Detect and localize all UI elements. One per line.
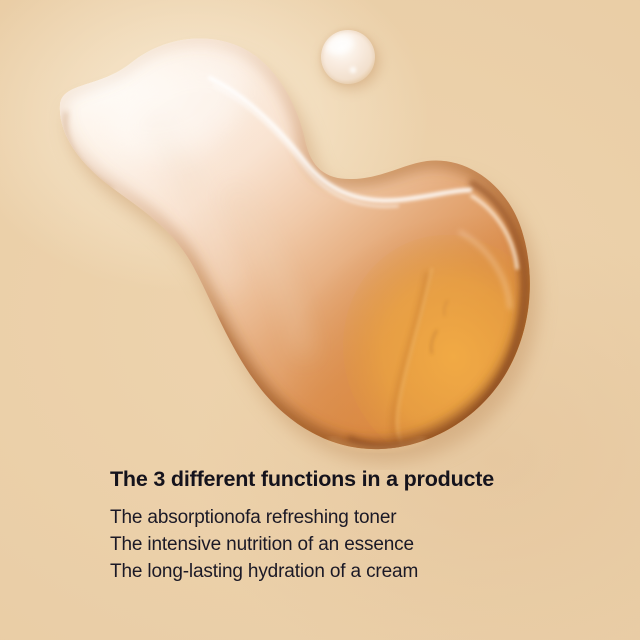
benefit-line-3: The long-lasting hydration of a cream [110,559,580,586]
small-serum-droplet [321,30,380,90]
serum-droplet-artwork [0,0,640,470]
benefit-line-2: The intensive nutrition of an essence [110,532,580,559]
copy-block: The 3 different functions in a producte … [110,468,580,586]
benefit-line-1: The absorptionofa refreshing toner [110,505,580,532]
headline: The 3 different functions in a producte [110,468,580,492]
product-benefits-poster: The 3 different functions in a producte … [0,0,640,640]
